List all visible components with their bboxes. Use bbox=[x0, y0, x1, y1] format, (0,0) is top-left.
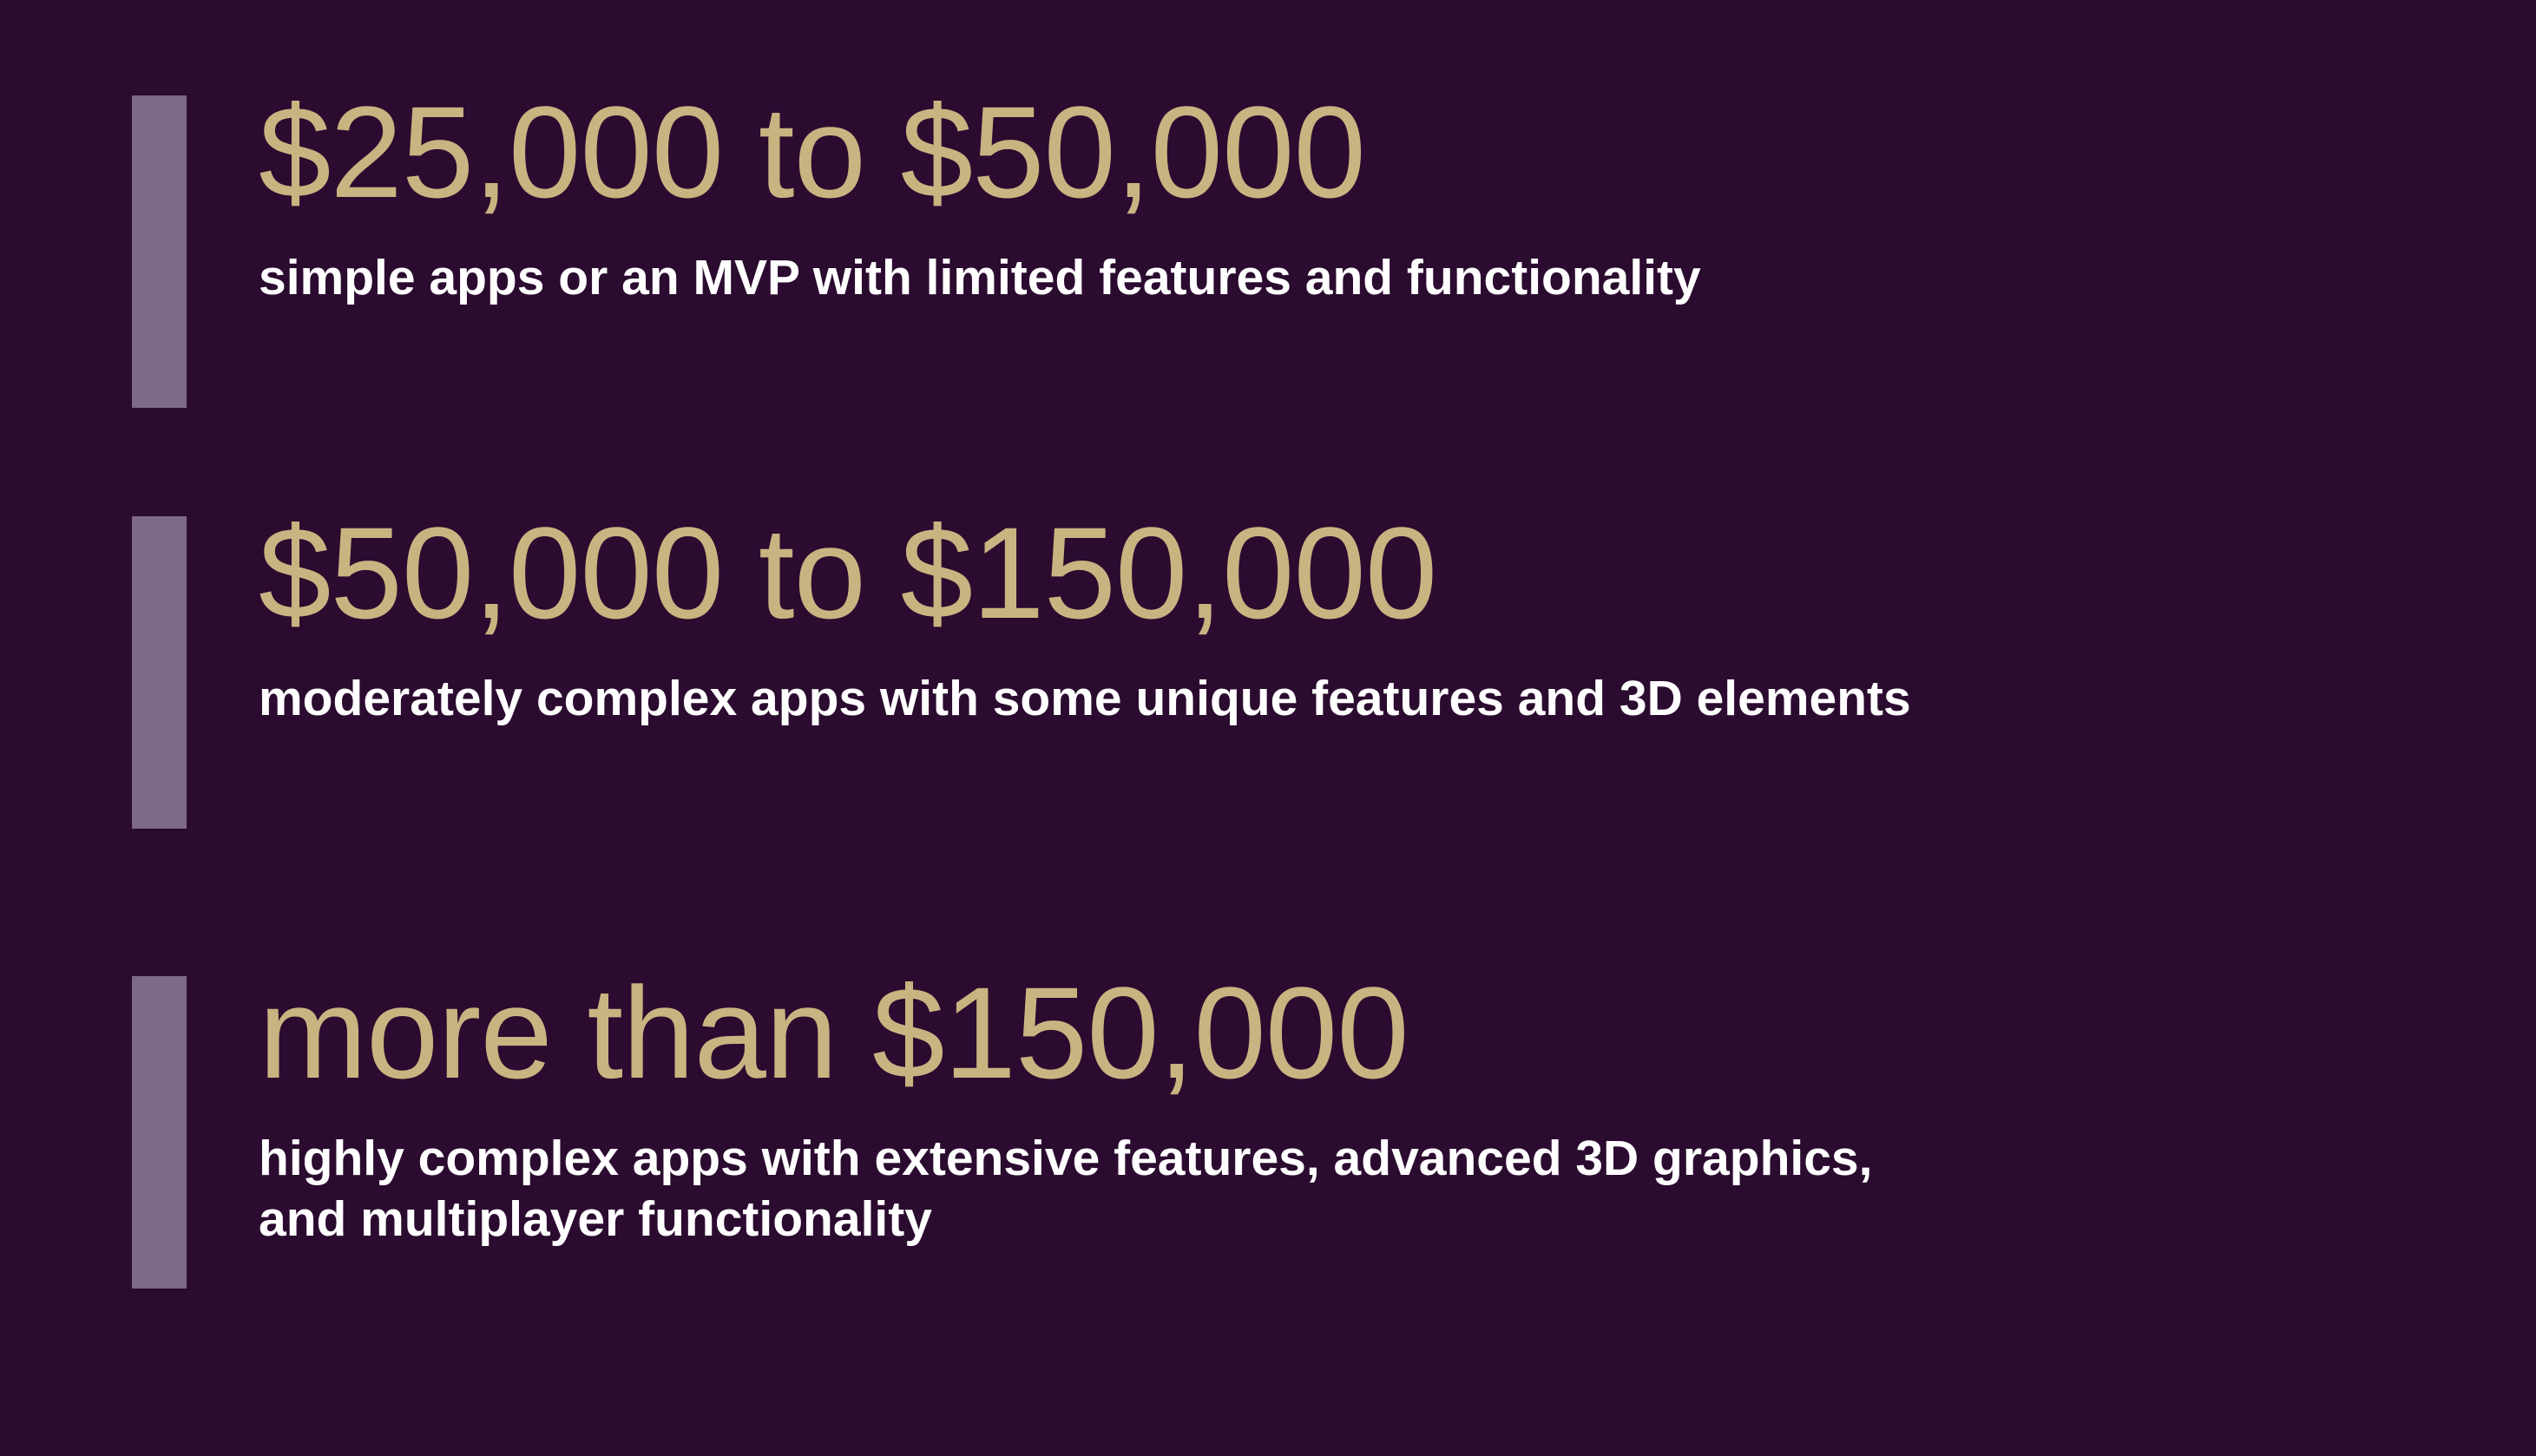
pricing-tier-1: $25,000 to $50,000 simple apps or an MVP… bbox=[0, 0, 2536, 451]
accent-bar-tier-3 bbox=[132, 976, 187, 1289]
pricing-tier-2: $50,000 to $150,000 moderately complex a… bbox=[0, 434, 2536, 885]
pricing-tier-3: more than $150,000 highly complex apps w… bbox=[0, 894, 2536, 1432]
tier-2-price-heading: $50,000 to $150,000 bbox=[259, 508, 2501, 638]
tier-3-body: more than $150,000 highly complex apps w… bbox=[259, 967, 2501, 1249]
tier-3-price-heading: more than $150,000 bbox=[259, 967, 2501, 1098]
tier-3-description-line-2: and multiplayer functionality bbox=[259, 1190, 2501, 1250]
tier-1-price-heading: $25,000 to $50,000 bbox=[259, 87, 2501, 217]
accent-bar-tier-1 bbox=[132, 95, 187, 408]
tier-1-body: $25,000 to $50,000 simple apps or an MVP… bbox=[259, 87, 2501, 309]
tier-3-description-line-1: highly complex apps with extensive featu… bbox=[259, 1131, 1872, 1186]
tier-2-body: $50,000 to $150,000 moderately complex a… bbox=[259, 508, 2501, 730]
infographic-slide: $25,000 to $50,000 simple apps or an MVP… bbox=[0, 0, 2536, 1456]
tier-1-description: simple apps or an MVP with limited featu… bbox=[259, 248, 2501, 309]
tier-2-description: moderately complex apps with some unique… bbox=[259, 669, 2501, 730]
accent-bar-tier-2 bbox=[132, 516, 187, 829]
tier-3-description: highly complex apps with extensive featu… bbox=[259, 1129, 2501, 1249]
